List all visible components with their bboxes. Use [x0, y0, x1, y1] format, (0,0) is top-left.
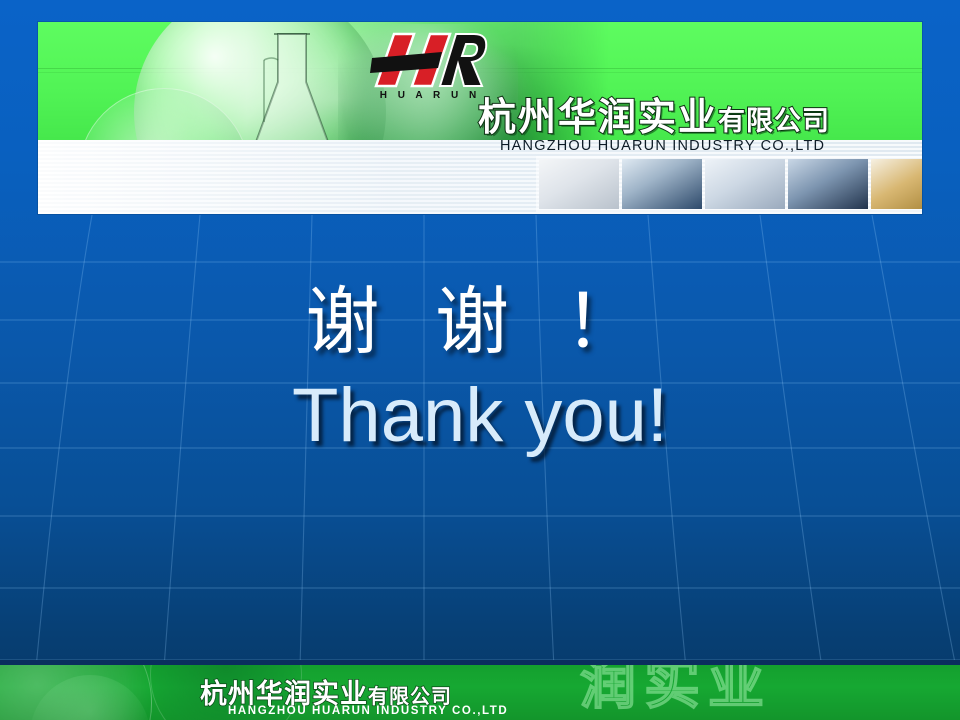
- banner-company-name-cn-suffix: 有限公司: [718, 106, 830, 137]
- banner-company-name-cn-main: 杭州华润实业: [478, 95, 718, 139]
- slide-body: 谢 谢 ！ Thank you!: [0, 284, 960, 455]
- footer-bar: 润实业 杭州华润实业有限公司 HANGZHOU HUARUN INDUSTRY …: [0, 665, 960, 720]
- banner-company-name-cn: 杭州华润实业有限公司: [478, 86, 830, 141]
- header-banner: H U A R U N 杭州华润实业有限公司 HANGZHOU HUARUN I…: [38, 22, 922, 214]
- thanks-chinese-text: 谢 谢 ！: [0, 284, 960, 362]
- product-photo-plastic-dropper-bottles: [705, 159, 785, 209]
- product-photo-syringe-assembly-line: [622, 159, 702, 209]
- banner-company-name-en: HANGZHOU HUARUN INDUSTRY CO.,LTD: [500, 138, 825, 154]
- product-photo-prefilled-syringes: [788, 159, 868, 209]
- footer-watermark-text: 润实业: [580, 665, 772, 713]
- thanks-english-text: Thank you!: [0, 376, 960, 456]
- product-photo-spray-bottles-and-caps: [539, 159, 619, 209]
- presentation-slide: H U A R U N 杭州华润实业有限公司 HANGZHOU HUARUN I…: [0, 0, 960, 720]
- huarun-wordmark: H U A R U N: [376, 90, 484, 101]
- product-photo-strip: [536, 156, 922, 212]
- footer-company-name-en: HANGZHOU HUARUN INDUSTRY CO.,LTD: [228, 705, 508, 717]
- product-photo-amber-jars-and-petri-dishes: [871, 159, 922, 209]
